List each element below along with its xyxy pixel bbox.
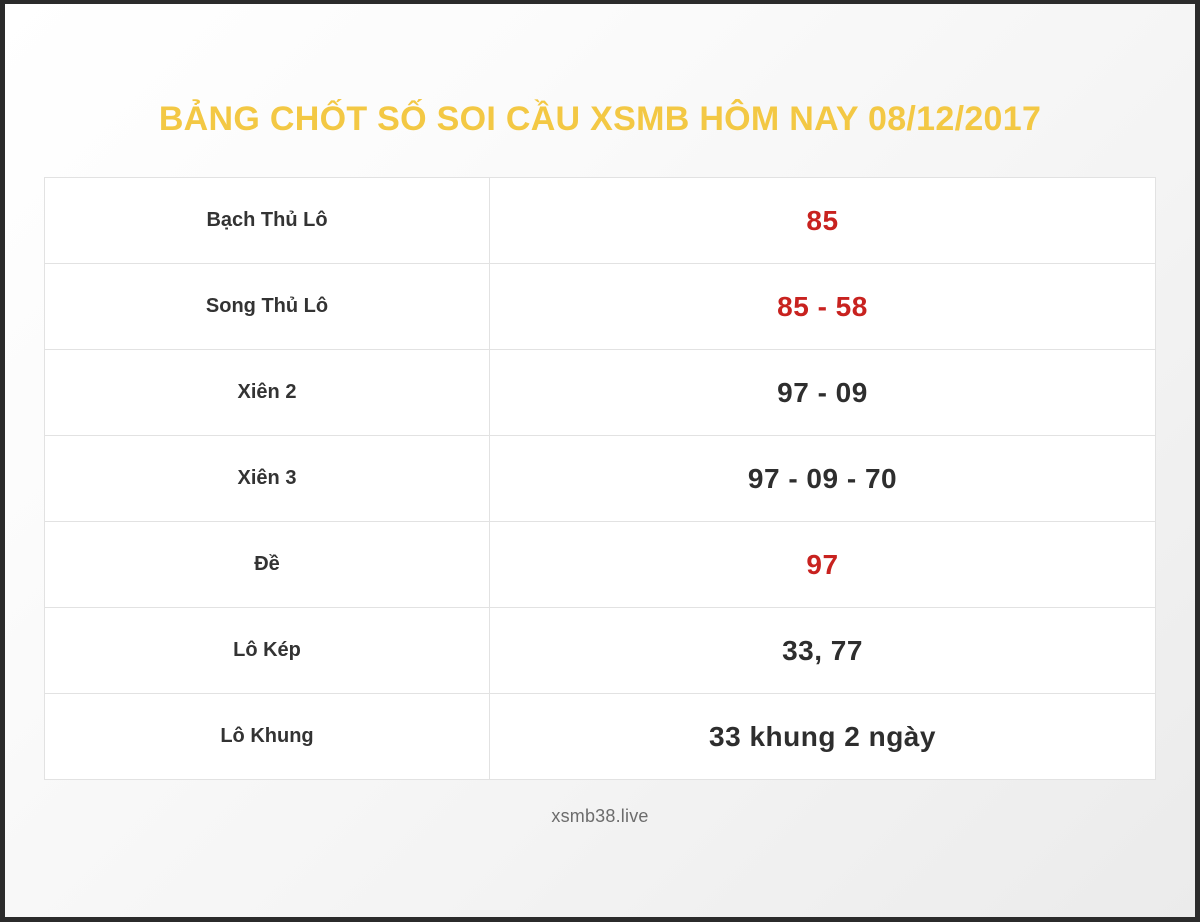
site-watermark: xsmb38.live	[551, 806, 648, 827]
row-value: 97	[490, 522, 1156, 608]
row-label: Xiên 2	[45, 350, 490, 436]
row-label: Bạch Thủ Lô	[45, 178, 490, 264]
prediction-table: Bạch Thủ Lô 85 Song Thủ Lô 85 - 58 Xiên …	[44, 177, 1156, 780]
row-value: 85 - 58	[490, 264, 1156, 350]
page-title: BẢNG CHỐT SỐ SOI CẦU XSMB HÔM NAY 08/12/…	[159, 102, 1041, 136]
row-label: Lô Khung	[45, 694, 490, 780]
table-row: Lô Kép 33, 77	[45, 608, 1156, 694]
row-label: Đề	[45, 522, 490, 608]
prediction-table-body: Bạch Thủ Lô 85 Song Thủ Lô 85 - 58 Xiên …	[45, 178, 1156, 780]
table-row: Đề 97	[45, 522, 1156, 608]
row-value: 85	[490, 178, 1156, 264]
row-value: 33, 77	[490, 608, 1156, 694]
table-row: Song Thủ Lô 85 - 58	[45, 264, 1156, 350]
page-canvas: BẢNG CHỐT SỐ SOI CẦU XSMB HÔM NAY 08/12/…	[5, 4, 1195, 917]
row-label: Song Thủ Lô	[45, 264, 490, 350]
row-value: 97 - 09 - 70	[490, 436, 1156, 522]
table-row: Bạch Thủ Lô 85	[45, 178, 1156, 264]
row-value: 33 khung 2 ngày	[490, 694, 1156, 780]
row-label: Xiên 3	[45, 436, 490, 522]
row-value: 97 - 09	[490, 350, 1156, 436]
table-row: Xiên 3 97 - 09 - 70	[45, 436, 1156, 522]
table-row: Lô Khung 33 khung 2 ngày	[45, 694, 1156, 780]
table-row: Xiên 2 97 - 09	[45, 350, 1156, 436]
row-label: Lô Kép	[45, 608, 490, 694]
